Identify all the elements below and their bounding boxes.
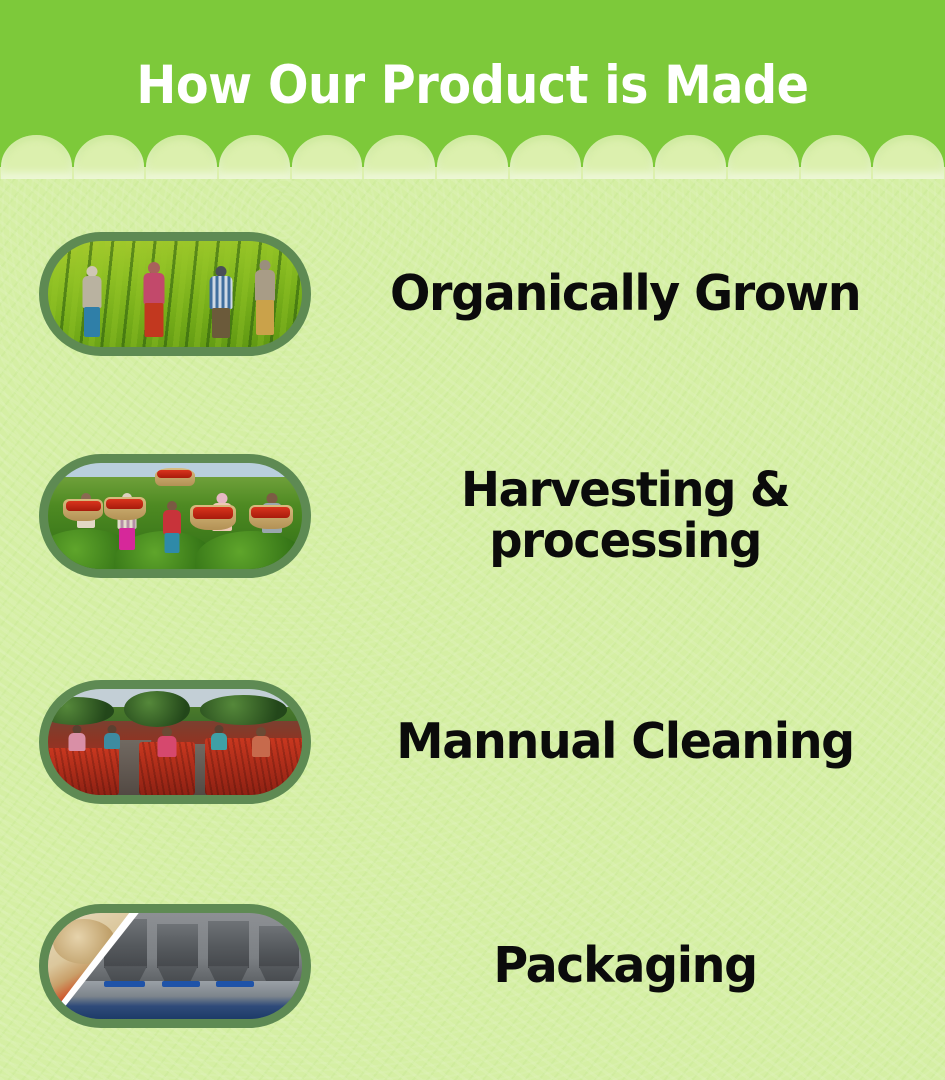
cleaning-worker-figure [104,725,121,748]
step-image-card-2 [39,454,311,578]
cleaning-worker-figure [251,727,270,759]
workers-harvesting-red-chillies-into-baskets-photo [48,463,302,569]
field-worker-figure [208,266,233,340]
field-worker-figure [81,266,103,340]
step-label-2-line-1: Harvesting & [461,462,789,518]
scallop-bump [583,135,654,179]
machine-hopper [157,924,198,969]
scallop-bump [873,135,944,179]
scallop-bump [364,135,435,179]
scallop-bump [801,135,872,179]
machine-blue-band [216,981,254,987]
harvest-worker-figure [162,493,182,548]
drying-chilli-bed [48,748,119,795]
chilli-basket [249,505,293,529]
field-worker-figure [142,262,166,340]
step-label-3: Mannual Cleaning [321,716,936,768]
chilli-basket [155,468,195,486]
scallop-bump [728,135,799,179]
chilli-basket [104,497,146,520]
step-row-harvesting-processing: Harvesting & processing [0,436,945,596]
step-image-card-3 [39,680,311,804]
scallop-bump [1,135,72,179]
header-band: How Our Product is Made [0,0,945,178]
tree-canopy [200,695,286,725]
scallop-bump [437,135,508,179]
scallop-bump [510,135,581,179]
scallop-bump [292,135,363,179]
farm-workers-in-green-crop-field-photo [48,241,302,347]
step-row-organically-grown: Organically Grown [0,214,945,374]
machine-hopper [208,921,249,968]
chilli-basket [63,499,103,521]
cleaning-worker-figure [211,725,228,750]
step-row-mannual-cleaning: Mannual Cleaning [0,662,945,822]
packaging-machine-hoppers-with-spice-inset-photo [48,913,302,1019]
step-row-packaging: Packaging [0,886,945,1046]
cleaning-worker-figure [68,725,86,753]
machine-blue-band [104,981,145,987]
workers-sorting-red-chillies-drying-on-ground-photo [48,689,302,795]
scalloped-edge [0,133,945,179]
scallop-bump [146,135,217,179]
scallop-bump [219,135,290,179]
step-label-2-line-2: processing [489,513,761,569]
machine-hopper [259,926,300,968]
infographic-poster: How Our Product is Made [0,0,945,1080]
scallop-bump [655,135,726,179]
field-worker-figure [254,260,277,341]
step-image-card-1 [39,232,311,356]
step-image-card-4 [39,904,311,1028]
scallop-bump [74,135,145,179]
step-label-1: Organically Grown [321,268,936,320]
step-label-4: Packaging [321,940,936,992]
cleaning-worker-figure [157,727,177,759]
step-label-2: Harvesting & processing [321,465,936,567]
machine-blue-band [162,981,200,987]
steps-list: Organically Grown [0,196,945,1080]
tree-canopy [124,691,190,727]
chilli-basket [190,505,236,530]
